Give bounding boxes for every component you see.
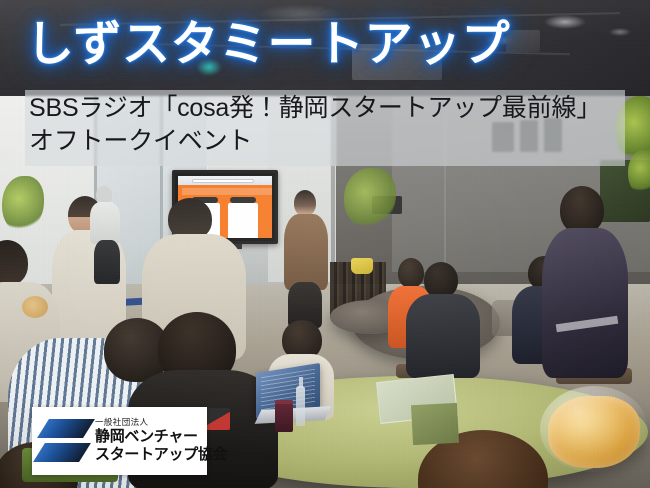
banner-subtitle: SBSラジオ「cosa発！静岡スタートアップ最前線」 オフトークイベント: [29, 92, 641, 157]
yellow-bag: [351, 258, 373, 274]
organization-logo: 一般社団法人 静岡ベンチャー スタートアップ協会: [32, 407, 207, 475]
subtitle-line-2: オフトークイベント: [29, 125, 641, 158]
snack-bag-wrapper: [540, 386, 648, 472]
glass-bottle: [296, 386, 305, 426]
url-bar: [192, 179, 254, 183]
browser-toolbar: [178, 176, 272, 185]
event-banner: しずスタミートアップ SBSラジオ「cosa発！静岡スタートアップ最前線」 オフ…: [0, 0, 650, 488]
s-mark-bar-top: [37, 419, 95, 438]
s-mark-icon: [41, 415, 87, 467]
food-item: [22, 296, 48, 318]
logo-name-line-2: スタートアップ協会: [95, 446, 227, 464]
logo-text-block: 一般社団法人 静岡ベンチャー スタートアップ協会: [95, 418, 227, 464]
flyer-2: [411, 403, 459, 445]
jar: [275, 404, 293, 432]
s-mark-bar-bottom: [33, 443, 91, 462]
ceiling-vent: [506, 30, 540, 52]
subtitle-line-1: SBSラジオ「cosa発！静岡スタートアップ最前線」: [29, 94, 601, 122]
slide-card-2: [228, 203, 258, 238]
logo-name-line-1: 静岡ベンチャー: [95, 428, 227, 446]
slide-heading: [182, 188, 272, 195]
logo-legal-prefix: 一般社団法人: [95, 418, 227, 427]
banner-title: しずスタミートアップ: [26, 20, 510, 71]
